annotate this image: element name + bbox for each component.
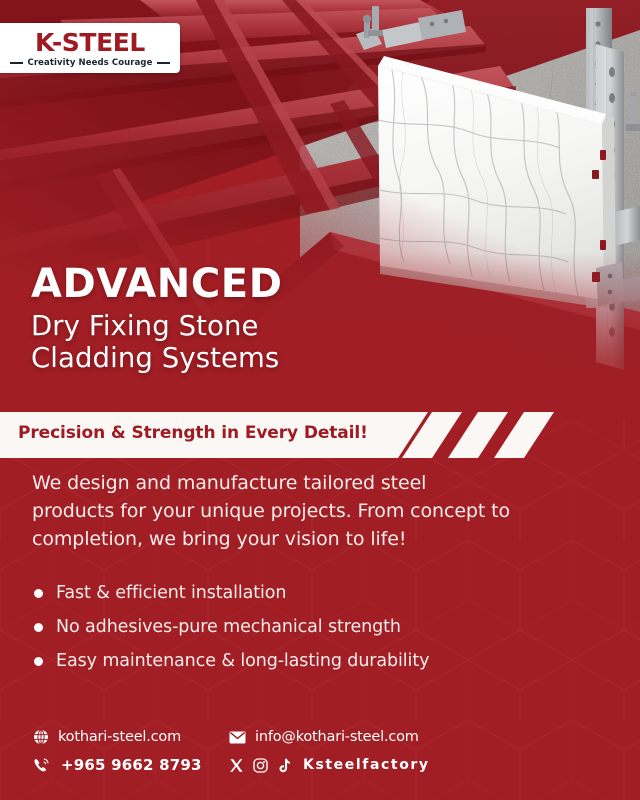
feature-label: Easy maintenance & long-lasting durabili… [56,651,429,671]
feature-list: Fast & efficient installation No adhesiv… [34,576,429,678]
x-twitter-icon[interactable] [229,758,244,773]
headline-emphasis: ADVANCED [31,264,283,304]
dot-icon [34,623,43,632]
banner-text: Precision & Strength in Every Detail! [18,410,368,456]
phone-link[interactable]: +965 9662 8793 [33,756,229,774]
tiktok-icon[interactable] [277,758,291,773]
feature-label: No adhesives-pure mechanical strength [56,617,401,637]
globe-icon [33,729,49,745]
phone-call-icon [33,757,50,774]
website-label: kothari-steel.com [58,729,181,745]
email-link[interactable]: info@kothari-steel.com [229,729,419,745]
logo-tagline: Creativity Needs Courage [28,58,153,68]
list-item: No adhesives-pure mechanical strength [34,610,429,644]
list-item: Easy maintenance & long-lasting durabili… [34,644,429,678]
envelope-icon [229,731,246,744]
website-link[interactable]: kothari-steel.com [33,729,229,745]
headline-block: ADVANCED Dry Fixing Stone Cladding Syste… [31,264,283,374]
email-label: info@kothari-steel.com [255,729,419,745]
list-item: Fast & efficient installation [34,576,429,610]
social-icon-group [229,758,291,773]
dot-icon [34,657,43,666]
brand-logo[interactable]: K-STEEL Creativity Needs Courage [0,23,180,73]
logo-wordmark: K-STEEL [35,30,145,55]
tagline-banner: Precision & Strength in Every Detail! [0,410,640,460]
instagram-icon[interactable] [253,758,268,773]
footer-row-top: kothari-steel.com info@kothari-steel.com [33,723,430,751]
social-cell: Ksteelfactory [229,757,430,773]
poster-canvas: K-STEEL Creativity Needs Courage ADVANCE… [0,0,640,800]
phone-label: +965 9662 8793 [61,756,202,774]
headline-line-3: Cladding Systems [31,342,283,374]
headline-line-2: Dry Fixing Stone [31,310,283,342]
feature-label: Fast & efficient installation [56,583,286,603]
dash-left-decoration [10,62,23,64]
footer-row-bottom: +965 9662 8793 [33,751,430,779]
body-paragraph: We design and manufacture tailored steel… [32,470,512,554]
footer-contact-block: kothari-steel.com info@kothari-steel.com [33,723,430,779]
logo-tagline-row: Creativity Needs Courage [10,58,171,68]
social-handle: Ksteelfactory [303,757,430,773]
dot-icon [34,589,43,598]
dash-right-decoration [157,62,170,64]
